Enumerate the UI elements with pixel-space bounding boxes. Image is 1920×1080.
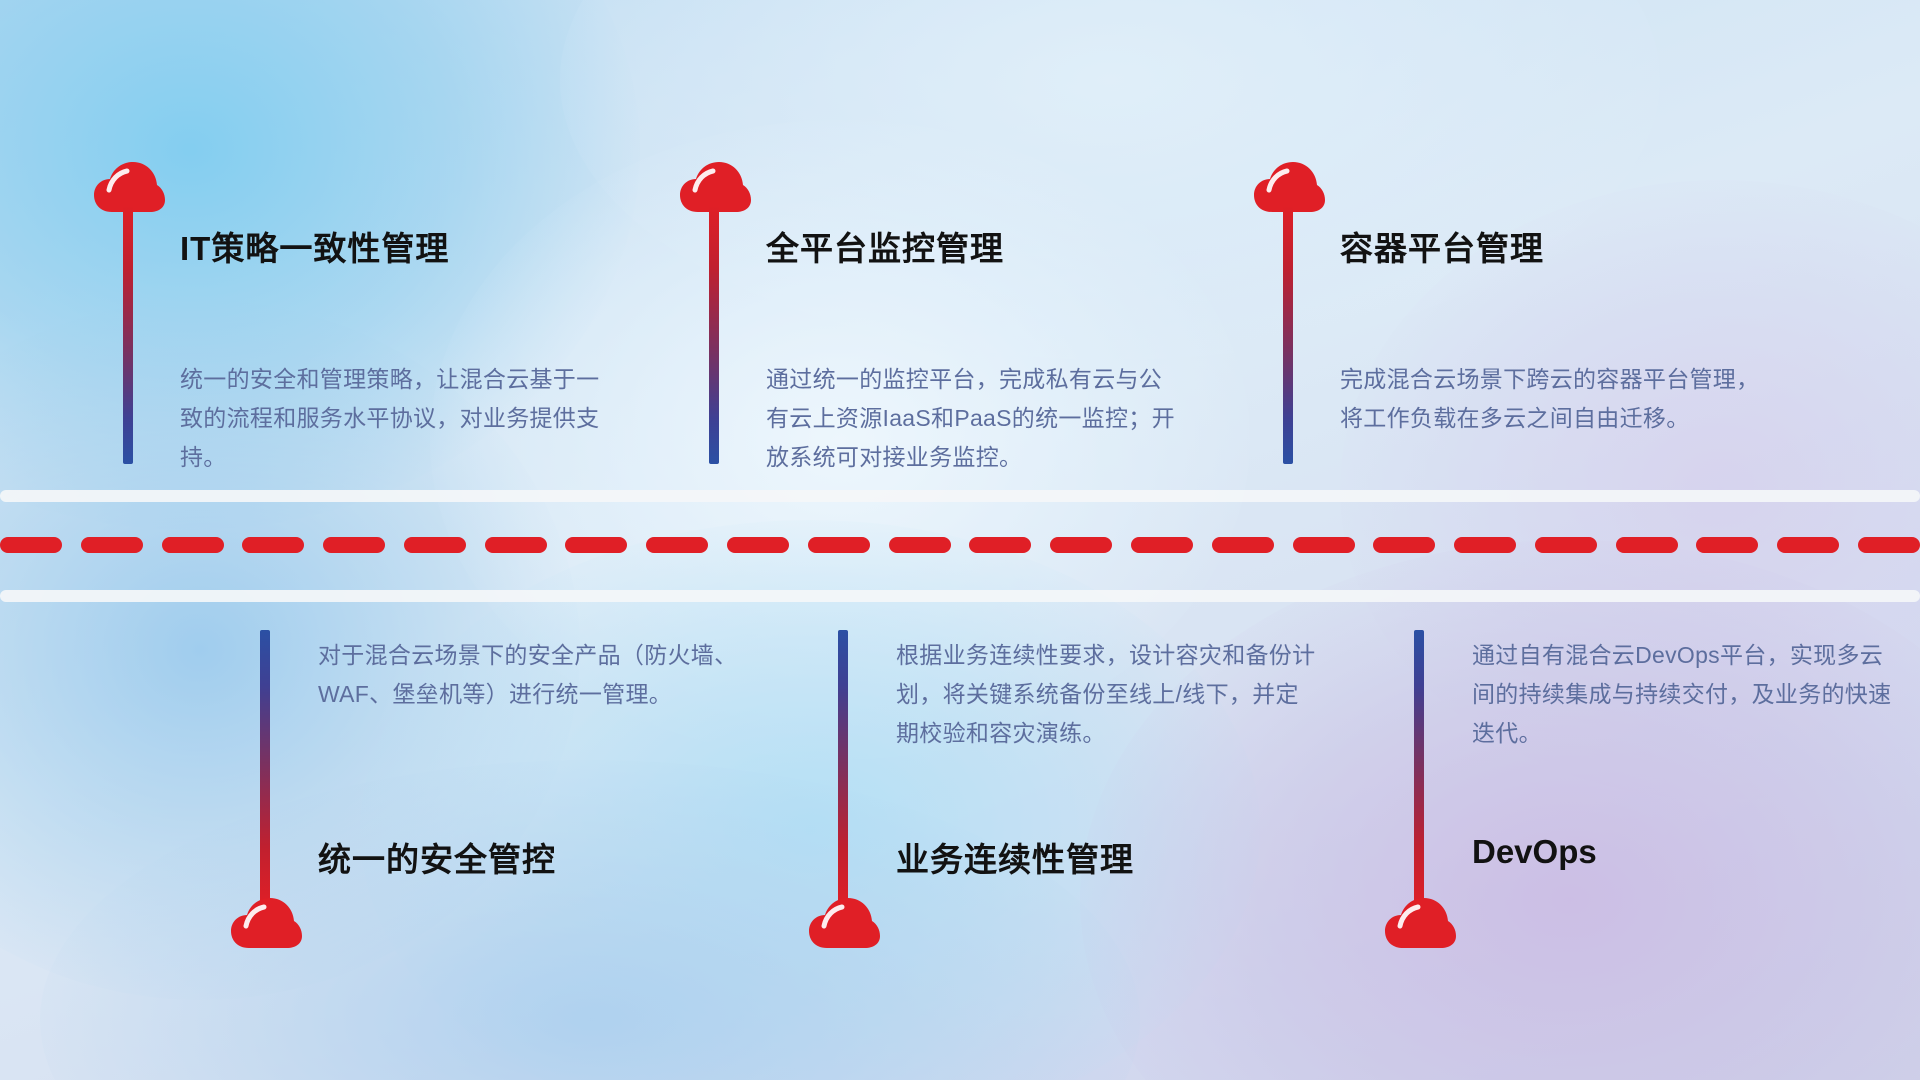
- item-heading: 容器平台管理: [1340, 222, 1544, 270]
- item-heading: IT策略一致性管理: [180, 222, 449, 270]
- divider-dash: [1212, 537, 1274, 553]
- timeline-stem: [1414, 630, 1424, 908]
- divider-dash: [1696, 537, 1758, 553]
- divider-dash: [323, 537, 385, 553]
- divider-dash: [404, 537, 466, 553]
- background-bloom-blue-bottom: [40, 760, 1140, 1080]
- item-heading: 业务连续性管理: [896, 833, 1134, 881]
- divider-dash: [81, 537, 143, 553]
- divider-dash: [1050, 537, 1112, 553]
- background-bloom-cyan-lower: [360, 520, 1260, 1080]
- cloud-pin-icon: [1383, 896, 1457, 952]
- item-description: 通过自有混合云DevOps平台，实现多云间的持续集成与持续交付，及业务的快速迭代…: [1472, 636, 1892, 753]
- divider-dash: [1777, 537, 1839, 553]
- divider-dash: [565, 537, 627, 553]
- divider-dash: [889, 537, 951, 553]
- divider-dash: [485, 537, 547, 553]
- divider-dash: [0, 537, 62, 553]
- timeline-stem: [1283, 206, 1293, 464]
- divider-dash: [1131, 537, 1193, 553]
- item-description: 对于混合云场景下的安全产品（防火墙、WAF、堡垒机等）进行统一管理。: [318, 636, 738, 714]
- item-description: 根据业务连续性要求，设计容灾和备份计划，将关键系统备份至线上/线下，并定期校验和…: [896, 636, 1316, 753]
- divider-dash: [646, 537, 708, 553]
- divider-dashed-line: [0, 537, 1920, 553]
- timeline-stem: [260, 630, 270, 908]
- timeline-stem: [123, 206, 133, 464]
- item-heading: 全平台监控管理: [766, 222, 1004, 270]
- divider-dash: [162, 537, 224, 553]
- divider-dash: [1373, 537, 1435, 553]
- divider-dash: [1858, 537, 1920, 553]
- item-heading: DevOps: [1472, 833, 1597, 871]
- divider-rule-upper: [0, 490, 1920, 502]
- divider-dash: [1616, 537, 1678, 553]
- divider-dash: [727, 537, 789, 553]
- item-description: 通过统一的监控平台，完成私有云与公有云上资源IaaS和PaaS的统一监控；开放系…: [766, 360, 1184, 477]
- background-bloom-violet-bottom-right: [1080, 540, 1920, 1080]
- divider-dash: [969, 537, 1031, 553]
- divider-dash: [1454, 537, 1516, 553]
- cloud-pin-icon: [229, 896, 303, 952]
- infographic-canvas: IT策略一致性管理 统一的安全和管理策略，让混合云基于一致的流程和服务水平协议，…: [0, 0, 1920, 1080]
- item-description: 完成混合云场景下跨云的容器平台管理，将工作负载在多云之间自由迁移。: [1340, 360, 1760, 438]
- divider-rule-lower: [0, 590, 1920, 602]
- divider-dash: [242, 537, 304, 553]
- divider-dash: [1535, 537, 1597, 553]
- cloud-pin-icon: [807, 896, 881, 952]
- timeline-stem: [838, 630, 848, 908]
- divider-dash: [808, 537, 870, 553]
- item-description: 统一的安全和管理策略，让混合云基于一致的流程和服务水平协议，对业务提供支持。: [180, 360, 600, 477]
- divider-dash: [1293, 537, 1355, 553]
- timeline-stem: [709, 206, 719, 464]
- item-heading: 统一的安全管控: [318, 833, 556, 881]
